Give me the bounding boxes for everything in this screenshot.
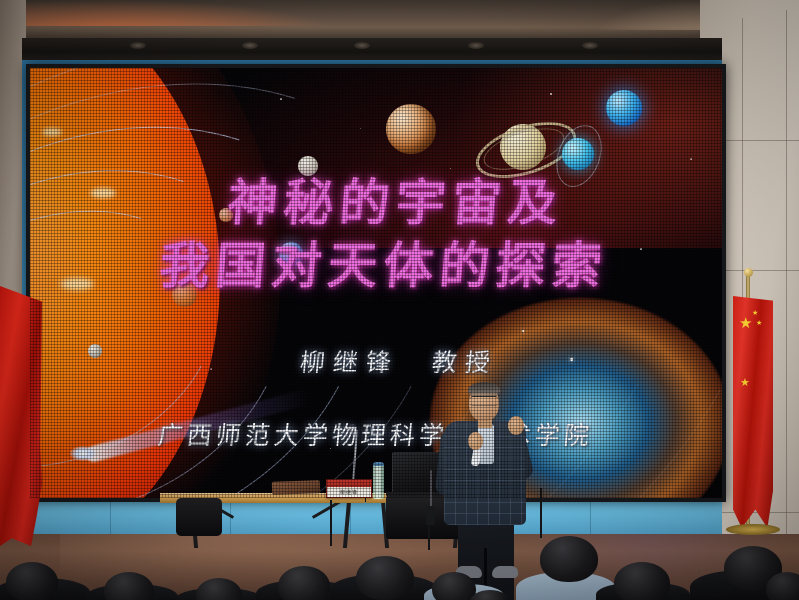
flag-pole-base: [726, 524, 780, 535]
downlight-4: [468, 42, 484, 49]
slide-presenter-name: 柳继锋 教授: [298, 343, 500, 379]
audience-head: [614, 562, 670, 600]
wall-seam-vertical-2: [786, 10, 787, 558]
document-folder: [272, 480, 320, 495]
nebula-bright-star: [522, 330, 524, 332]
slide-title-line-2: 我国对天体的探索: [157, 226, 611, 298]
nebula-bright-star: [570, 358, 573, 361]
audience-head: [6, 562, 58, 600]
red-drape-left: [0, 286, 42, 546]
water-bottle: [373, 462, 384, 499]
chair-left: [176, 498, 222, 536]
flag-pole-finial: [744, 268, 753, 277]
audience-head: [356, 556, 414, 600]
flag-star-small-1: ★: [752, 310, 758, 317]
downlight-2: [242, 42, 258, 49]
speaker-shoe-right: [492, 566, 518, 578]
speaker-hand-right: [508, 416, 524, 435]
flag-star-large: ★: [739, 316, 752, 331]
planet-mercury: [88, 344, 102, 358]
audience-head: [540, 536, 598, 582]
speaker-hand-left: [468, 432, 483, 450]
downlight-3: [354, 42, 370, 49]
downlight-1: [130, 42, 146, 49]
ceiling-warm-glow: [0, 0, 330, 26]
led-screen-surface: 神秘的宇宙及 我国对天体的探索 柳继锋 教授 广西师范大学物理科学与技术学院: [30, 68, 722, 498]
comet-head: [70, 446, 96, 461]
downlight-5: [582, 42, 598, 49]
desk-nameplate-text: 柳继锋: [327, 489, 371, 496]
desk-nameplate: 柳继锋: [326, 479, 372, 498]
slide-title-line-1: 神秘的宇宙及: [225, 163, 567, 235]
flag-star-small-2: ★: [756, 320, 762, 327]
led-video-wall: 神秘的宇宙及 我国对天体的探索 柳继锋 教授 广西师范大学物理科学与技术学院: [26, 64, 726, 502]
flag-star-small-3: ★: [740, 378, 750, 389]
planet-jupiter: [386, 104, 436, 154]
floor-microphone-pole: [430, 470, 432, 510]
audience-head: [278, 566, 330, 600]
floor-microphone-body: [426, 506, 435, 525]
lecture-photo-scene: 神秘的宇宙及 我国对天体的探索 柳继锋 教授 广西师范大学物理科学与技术学院 ★…: [0, 0, 799, 600]
audience-head: [432, 572, 476, 600]
audience-head: [766, 572, 799, 600]
slide-affiliation: 广西师范大学物理科学与技术学院: [156, 416, 595, 452]
planet-neptune: [606, 90, 642, 126]
speaker-glasses: [470, 396, 498, 406]
